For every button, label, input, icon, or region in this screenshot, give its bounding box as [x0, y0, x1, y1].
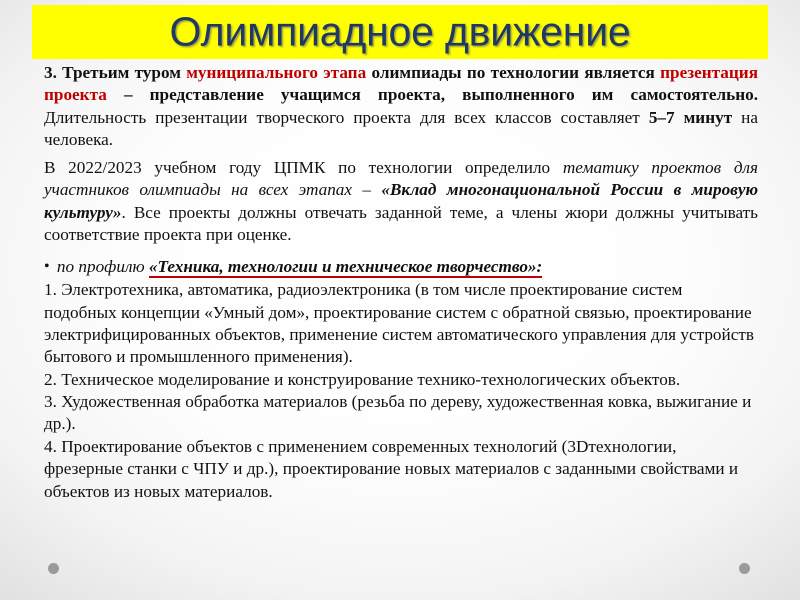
- paragraph-1-number: 3. Третьим туром: [44, 63, 186, 82]
- list-item: 4. Проектирование объектов с применением…: [44, 436, 758, 503]
- paragraph-2-dash: –: [352, 180, 381, 199]
- slide-body: 3. Третьим туром муниципального этапа ол…: [44, 62, 758, 503]
- paragraph-2-tail: . Все проекты должны отвечать заданной т…: [44, 203, 758, 244]
- list-item: 1. Электротехника, автоматика, радиоэлек…: [44, 279, 758, 368]
- paragraph-1-normal: Длительность презентации творческого про…: [44, 108, 649, 127]
- profile-heading: • по профилю «Техника, технологии и техн…: [44, 256, 758, 278]
- list-item: 2. Техническое моделирование и конструир…: [44, 369, 758, 391]
- paragraph-1-highlight-1: муниципального этапа: [186, 63, 366, 82]
- list-item: 3. Художественная обработка материалов (…: [44, 391, 758, 436]
- decorative-dot-left: [48, 563, 59, 574]
- page-title: Олимпиадное движение: [32, 12, 768, 53]
- profile-name: «Техника, технологии и техническое творч…: [149, 257, 542, 278]
- paragraph-1-duration: 5–7 минут: [649, 108, 732, 127]
- paragraph-1: 3. Третьим туром муниципального этапа ол…: [44, 62, 758, 151]
- paragraph-2: В 2022/2023 учебном году ЦПМК по техноло…: [44, 157, 758, 246]
- profile-lead-text: по профилю: [53, 257, 149, 276]
- title-banner: Олимпиадное движение: [32, 5, 768, 59]
- paragraph-2-lead: В 2022/2023 учебном году ЦПМК по техноло…: [44, 158, 563, 177]
- decorative-dot-right: [739, 563, 750, 574]
- bullet-icon: •: [44, 258, 53, 275]
- paragraph-1-mid-1: олимпиады по технологии является: [366, 63, 660, 82]
- paragraph-1-mid-2: – представление учащимся проекта, выполн…: [107, 85, 758, 104]
